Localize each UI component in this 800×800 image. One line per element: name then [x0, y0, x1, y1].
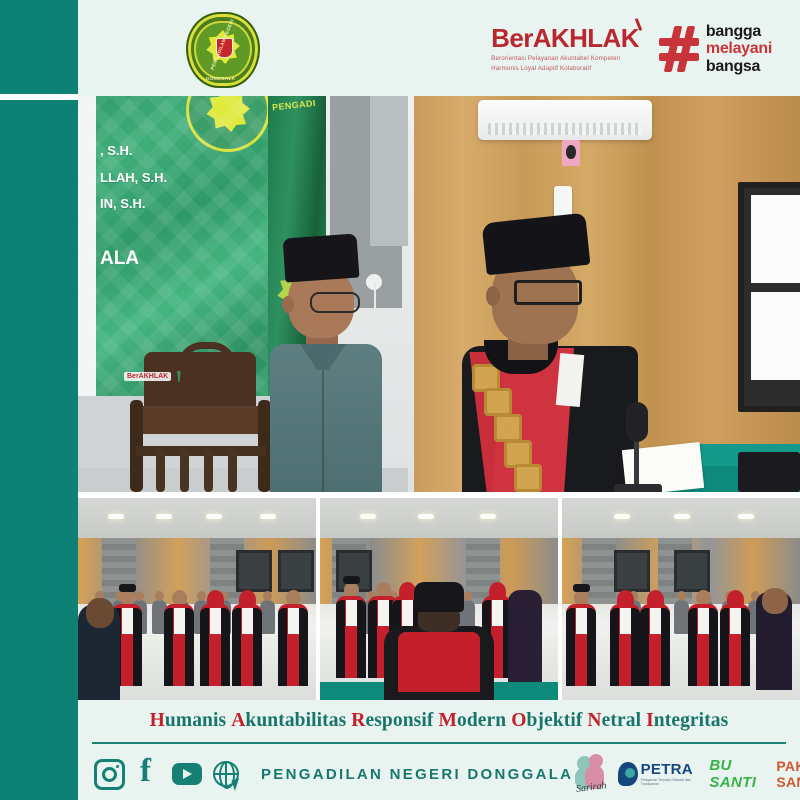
- seal-text-ring: PENGADILAN NEGERI DONGGALA: [186, 12, 260, 88]
- tagline-haromni: Humanis Akuntabilitas Responsif Modern O…: [78, 700, 800, 742]
- judge-oath-figure: [610, 590, 640, 686]
- microphone: [608, 402, 678, 492]
- judge-oath-figure: [278, 590, 308, 686]
- sub-photo-1: [78, 498, 316, 700]
- judge-oath-figure: [232, 590, 262, 686]
- tagline-word: Responsif: [351, 710, 433, 732]
- bu-santi-logo: BU SANTI: [709, 757, 764, 791]
- photo-collage: , S.H. LLAH, S.H. IN, S.H. ALA BerAKHLAK…: [78, 96, 800, 700]
- berakhlak-subtitle-line2: Harmonis Loyal Adaptif Kolaboratif: [491, 64, 639, 73]
- sub-photo-2: [320, 498, 558, 700]
- poster-canvas: PENGADILAN NEGERI DONGGALA BerAKHLAK Ber…: [0, 0, 800, 800]
- footer-divider: [92, 742, 786, 744]
- social-links: [94, 759, 239, 790]
- youtube-icon[interactable]: [172, 763, 202, 785]
- dark-equipment: [738, 452, 800, 492]
- header-bar: PENGADILAN NEGERI DONGGALA BerAKHLAK Ber…: [78, 0, 800, 94]
- berakhlak-suffix: AKHLAK: [533, 23, 639, 53]
- petra-subtitle: Pelayanan Terpadu Ramah dan Transparan: [641, 778, 698, 786]
- organization-name: PENGADILAN NEGERI DONGGALA: [261, 766, 573, 783]
- tagline-word: Akuntabilitas: [231, 710, 346, 732]
- website-globe-icon[interactable]: [213, 761, 239, 787]
- banner-line-2: LLAH, S.H.: [100, 165, 272, 192]
- banner-footer-logos: BerAKHLAK: [124, 371, 186, 382]
- brand-logos: BerAKHLAK Berorientasi Pelayanan Akuntab…: [491, 22, 772, 76]
- tagline-word: Netral: [587, 710, 641, 732]
- berakhlak-subtitle: Berorientasi Pelayanan Akuntabel Kompete…: [491, 54, 639, 73]
- officer-figure: [262, 236, 386, 492]
- official-figure: [508, 590, 542, 682]
- petra-logo: PETRA Pelayanan Terpadu Ramah dan Transp…: [618, 762, 697, 786]
- air-conditioner: [478, 100, 652, 140]
- banner-line-1: , S.H.: [100, 138, 272, 165]
- banner-hash-icon: [177, 371, 186, 382]
- judge-oath-figure: [336, 582, 366, 678]
- cursor-icon: [231, 778, 242, 791]
- petra-label: PETRA: [641, 762, 698, 777]
- bangga-line3: bangsa: [706, 58, 772, 75]
- judge-oath-figure: [566, 590, 596, 686]
- footer-bar: PENGADILAN NEGERI DONGGALA Sarirah PETRA…: [78, 742, 800, 800]
- petra-mark-icon: [618, 762, 638, 786]
- sub-photo-3: [562, 498, 800, 700]
- seal-text-top: PENGADILAN NEGERI: [210, 18, 235, 70]
- pak-sandi-logo: PAK SANDI: [776, 758, 800, 790]
- berakhlak-tick-icon: [635, 18, 647, 32]
- tagline-word: Objektif: [511, 710, 582, 732]
- judge-oath-figure: [200, 590, 230, 686]
- bangga-line1: bangga: [706, 23, 772, 40]
- banner-big-text: ALA: [100, 248, 139, 270]
- oath-leader-back-figure: [384, 582, 494, 700]
- judge-oath-figure: [720, 590, 750, 686]
- berakhlak-logo: BerAKHLAK Berorientasi Pelayanan Akuntab…: [491, 25, 643, 73]
- instagram-icon[interactable]: [94, 759, 125, 790]
- berakhlak-subtitle-line1: Berorientasi Pelayanan Akuntabel Kompete…: [491, 54, 639, 63]
- rail-notch: [0, 94, 78, 100]
- judge-oath-figure: [640, 590, 670, 686]
- sarirah-logo: Sarirah: [573, 754, 606, 794]
- main-photo: , S.H. LLAH, S.H. IN, S.H. ALA BerAKHLAK…: [78, 96, 800, 492]
- tagline-word: Humanis: [150, 710, 227, 732]
- flag-text: PENGADI: [272, 98, 321, 113]
- facebook-icon[interactable]: [136, 762, 161, 787]
- official-figure-head: [762, 588, 788, 614]
- wooden-chair: [122, 346, 280, 492]
- wall-sticker: [562, 140, 580, 166]
- seal-text-bottom: DONGGALA: [206, 76, 235, 81]
- banner-line-3: IN, S.H.: [100, 191, 272, 218]
- foreground-person-head: [86, 598, 114, 628]
- partner-logos: Sarirah PETRA Pelayanan Terpadu Ramah da…: [573, 754, 800, 794]
- banner-white-edge: [78, 96, 96, 396]
- berakhlak-prefix: Ber: [491, 23, 533, 53]
- banner-berakhlak-badge: BerAKHLAK: [124, 372, 171, 381]
- tagline-word: Modern: [438, 710, 506, 732]
- bangga-wordmark: bangga melayani bangsa: [706, 23, 772, 75]
- hashtag-icon: [659, 26, 699, 72]
- sarirah-label: Sarirah: [576, 780, 608, 795]
- tagline-word: Integritas: [646, 710, 728, 732]
- judge-oath-figure: [688, 590, 718, 686]
- bangga-line2: melayani: [706, 40, 772, 57]
- court-seal-icon: PENGADILAN NEGERI DONGGALA: [186, 12, 260, 88]
- berakhlak-wordmark: BerAKHLAK: [491, 25, 639, 51]
- bangga-melayani-bangsa-logo: bangga melayani bangsa: [659, 23, 772, 75]
- left-green-rail: [0, 0, 78, 800]
- grey-wall-panel-2: [370, 96, 408, 246]
- judge-oath-figure: [164, 590, 194, 686]
- window-frame: [738, 182, 800, 412]
- banner-name-lines: , S.H. LLAH, S.H. IN, S.H.: [100, 138, 272, 218]
